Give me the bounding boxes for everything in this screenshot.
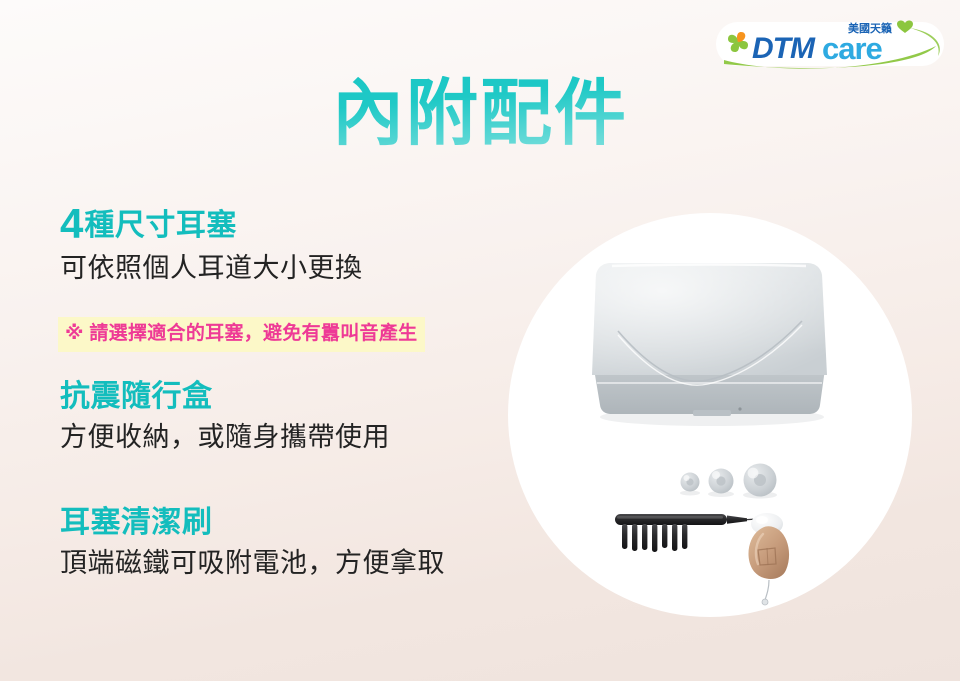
section-cleaning-brush: 耳塞清潔刷 頂端磁鐵可吸附電池，方便拿取: [60, 506, 445, 579]
section-2-subtitle: 方便收納，或隨身攜帶使用: [60, 422, 390, 453]
brush-and-hearing-aid-image: [613, 508, 813, 613]
section-1-subtitle: 可依照個人耳道大小更換: [60, 253, 363, 284]
section-1-heading: 4種尺寸耳塞: [60, 203, 363, 245]
dtmcare-logo: DTM care 美國天籟: [714, 16, 946, 74]
section-ear-tips: 4種尺寸耳塞 可依照個人耳道大小更換: [60, 203, 363, 284]
warning-note: ※ 請選擇適合的耳塞，避免有囂叫音產生: [58, 317, 425, 352]
warning-note-wrapper: ※ 請選擇適合的耳塞，避免有囂叫音產生: [58, 317, 425, 352]
clover-icon: [728, 32, 748, 52]
ear-tips-image: [676, 460, 786, 500]
carrying-case-image: [588, 257, 831, 427]
svg-text:DTM: DTM: [752, 32, 816, 65]
svg-text:美國天籟: 美國天籟: [848, 21, 893, 35]
section-3-subtitle: 頂端磁鐵可吸附電池，方便拿取: [60, 548, 445, 579]
product-photo: [508, 213, 912, 617]
section-3-heading: 耳塞清潔刷: [60, 506, 445, 540]
section-carry-case: 抗震隨行盒 方便收納，或隨身攜帶使用: [60, 380, 390, 453]
slide-root: DTM care 美國天籟 內附配件: [0, 0, 960, 681]
svg-text:care: care: [822, 31, 883, 66]
section-1-heading-text: 種尺寸耳塞: [84, 209, 237, 242]
page-title: 內附配件: [0, 76, 960, 154]
section-2-heading: 抗震隨行盒: [60, 380, 390, 414]
section-1-number: 4: [60, 200, 84, 247]
